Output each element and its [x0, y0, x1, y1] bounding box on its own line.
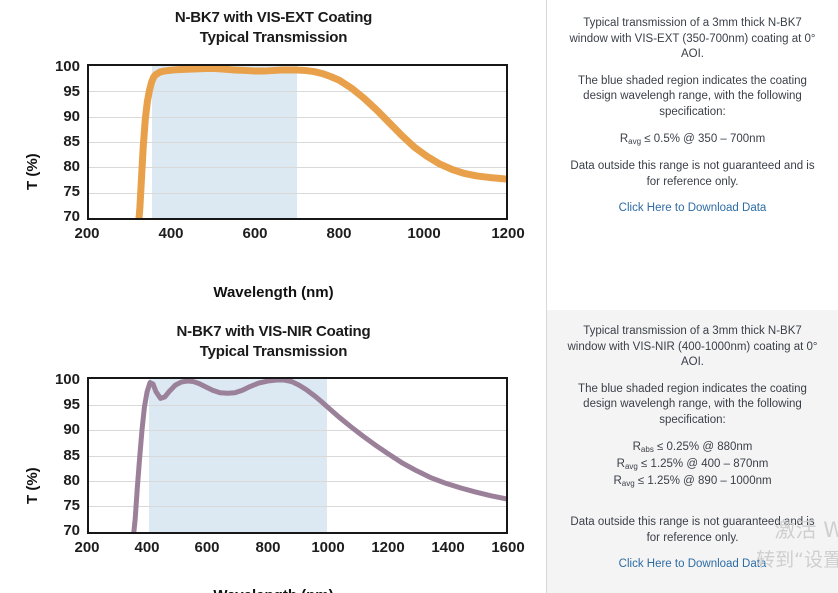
spec-line: Rabs ≤ 0.25% @ 880nm: [563, 439, 822, 456]
chart-title-line2: Typical Transmission: [0, 28, 547, 48]
x-axis-title-vis-ext: Wavelength (nm): [0, 284, 547, 301]
spec-line: Ravg ≤ 1.25% @ 890 – 1000nm: [563, 473, 822, 490]
ytick-70: 70: [40, 524, 80, 538]
plot-frame-vis-ext: [87, 64, 508, 220]
spec-symbol: R: [617, 458, 625, 470]
desc-paragraph-2: The blue shaded region indicates the coa…: [563, 74, 822, 121]
plot-frame-vis-nir: [87, 377, 508, 534]
spec-value: ≤ 1.25% @ 400 – 870nm: [638, 458, 769, 470]
ytick-80: 80: [40, 160, 80, 174]
xtick-1000: 1000: [298, 540, 358, 556]
spec-subscript: avg: [622, 479, 635, 488]
spec-list-vis-ext: Ravg ≤ 0.5% @ 350 – 700nm: [563, 131, 822, 148]
spec-list-vis-nir: Rabs ≤ 0.25% @ 880nm Ravg ≤ 1.25% @ 400 …: [563, 439, 822, 490]
desc-paragraph-1: Typical transmission of a 3mm thick N-BK…: [563, 16, 822, 63]
ytick-100: 100: [40, 373, 80, 387]
spec-subscript: avg: [625, 462, 638, 471]
chart-title-vis-ext: N-BK7 with VIS-EXT Coating Typical Trans…: [0, 8, 547, 48]
chart-title-line1: N-BK7 with VIS-EXT Coating: [175, 9, 372, 26]
ytick-75: 75: [40, 499, 80, 513]
ytick-85: 85: [40, 135, 80, 149]
chart-cell-vis-nir: N-BK7 with VIS-NIR Coating Typical Trans…: [0, 310, 547, 593]
x-axis-title-vis-nir: Wavelength (nm): [0, 587, 547, 593]
y-axis-title-vis-ext: T (%): [24, 153, 41, 190]
desc-paragraph-3: Data outside this range is not guarantee…: [563, 515, 822, 546]
ytick-95: 95: [40, 398, 80, 412]
description-cell-vis-ext: Typical transmission of a 3mm thick N-BK…: [547, 0, 838, 310]
ytick-70: 70: [40, 210, 80, 224]
plot-area-vis-ext: [87, 64, 508, 220]
download-data-link[interactable]: Click Here to Download Data: [563, 201, 822, 217]
ytick-75: 75: [40, 185, 80, 199]
plot-area-vis-nir: [87, 377, 508, 534]
description-cell-vis-nir: Typical transmission of a 3mm thick N-BK…: [547, 310, 838, 593]
chart-title-line1: N-BK7 with VIS-NIR Coating: [177, 323, 371, 340]
spec-value: ≤ 0.5% @ 350 – 700nm: [641, 133, 765, 145]
desc-paragraph-2: The blue shaded region indicates the coa…: [563, 382, 822, 429]
chart-title-vis-nir: N-BK7 with VIS-NIR Coating Typical Trans…: [0, 322, 547, 362]
transmission-curve-vis-ext: [89, 66, 506, 218]
spec-subscript: avg: [628, 137, 641, 146]
ytick-90: 90: [40, 423, 80, 437]
spec-row-vis-ext: N-BK7 with VIS-EXT Coating Typical Trans…: [0, 0, 838, 310]
xtick-400: 400: [141, 226, 201, 242]
spec-line: Ravg ≤ 1.25% @ 400 – 870nm: [563, 456, 822, 473]
ytick-85: 85: [40, 449, 80, 463]
ytick-90: 90: [40, 110, 80, 124]
xtick-800: 800: [309, 226, 369, 242]
spec-spacer: [563, 501, 822, 515]
xtick-600: 600: [225, 226, 285, 242]
chart-cell-vis-ext: N-BK7 with VIS-EXT Coating Typical Trans…: [0, 0, 547, 310]
desc-paragraph-3: Data outside this range is not guarantee…: [563, 159, 822, 190]
xtick-200: 200: [57, 540, 117, 556]
transmission-curve-vis-nir: [89, 379, 506, 532]
xtick-800: 800: [238, 540, 298, 556]
desc-paragraph-1: Typical transmission of a 3mm thick N-BK…: [563, 324, 822, 371]
ytick-100: 100: [40, 60, 80, 74]
chart-title-line2: Typical Transmission: [0, 342, 547, 362]
spec-value: ≤ 1.25% @ 890 – 1000nm: [635, 475, 772, 487]
xtick-1200: 1200: [358, 540, 418, 556]
xtick-600: 600: [177, 540, 237, 556]
spec-value: ≤ 0.25% @ 880nm: [654, 441, 753, 453]
xtick-400: 400: [117, 540, 177, 556]
xtick-1200: 1200: [478, 226, 538, 242]
download-data-link[interactable]: Click Here to Download Data: [563, 557, 822, 573]
spec-subscript: abs: [641, 445, 654, 454]
xtick-1000: 1000: [394, 226, 454, 242]
spec-line: Ravg ≤ 0.5% @ 350 – 700nm: [563, 131, 822, 148]
xtick-200: 200: [57, 226, 117, 242]
page-root: N-BK7 with VIS-EXT Coating Typical Trans…: [0, 0, 838, 593]
spec-symbol: R: [620, 133, 628, 145]
ytick-80: 80: [40, 474, 80, 488]
spec-symbol: R: [613, 475, 621, 487]
spec-row-vis-nir: N-BK7 with VIS-NIR Coating Typical Trans…: [0, 310, 838, 593]
spec-symbol: R: [633, 441, 641, 453]
ytick-95: 95: [40, 85, 80, 99]
xtick-1600: 1600: [478, 540, 538, 556]
xtick-1400: 1400: [418, 540, 478, 556]
y-axis-title-vis-nir: T (%): [24, 467, 41, 504]
